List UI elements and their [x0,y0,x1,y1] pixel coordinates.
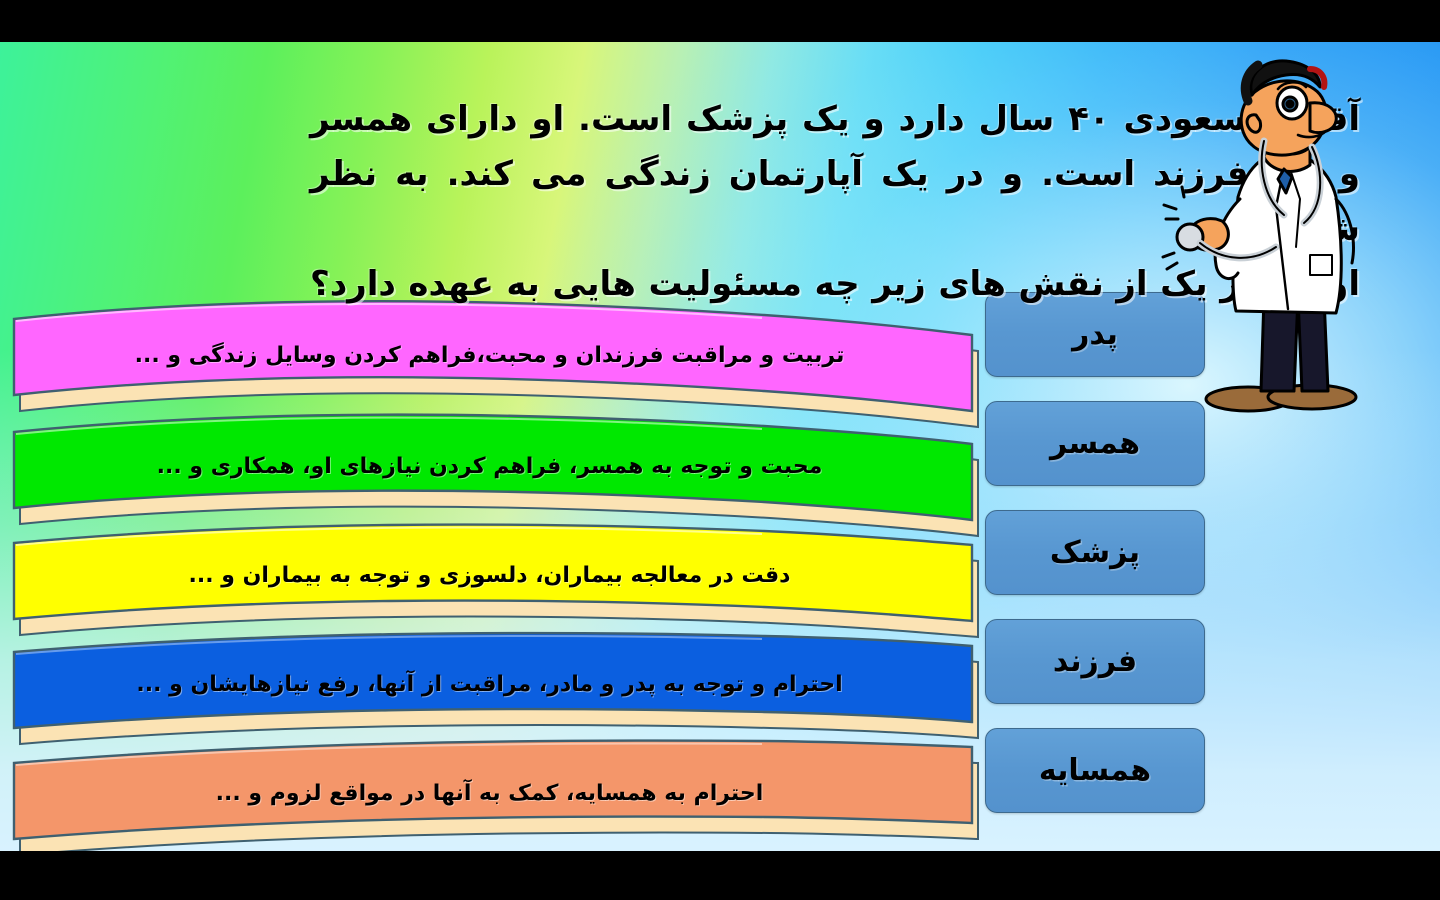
role-label-neighbor: همسایه [1039,753,1151,788]
responsibility-band-list: تربیت و مراقبت فرزندان و محبت،فراهم کردن… [4,285,979,850]
doctor-illustration [1160,47,1420,447]
role-box-physician[interactable]: پزشک [985,510,1205,595]
band-text-child: احترام و توجه به پدر و مادر، مراقبت از آ… [26,672,953,697]
band-text-spouse: محبت و توجه به همسر، فراهم کردن نیازهای … [26,454,953,479]
role-label-physician: پزشک [1050,535,1140,570]
band-text-neighbor: احترام به همسایه، کمک به آنها در مواقع ل… [26,781,953,806]
slide-root: آقای مسعودی ۴۰ سال دارد و یک پزشک است. ا… [0,0,1440,900]
band-row-neighbor: احترام به همسایه، کمک به آنها در مواقع ل… [4,713,979,851]
role-label-spouse: همسر [1050,426,1140,461]
role-box-neighbor[interactable]: همسایه [985,728,1205,813]
role-label-child: فرزند [1053,644,1137,679]
band-text-physician: دقت در معالجه بیماران، دلسوزی و توجه به … [26,563,953,588]
role-label-father: پدر [1072,317,1118,352]
role-box-child[interactable]: فرزند [985,619,1205,704]
band-text-father: تربیت و مراقبت فرزندان و محبت،فراهم کردن… [26,343,953,368]
slide-canvas: آقای مسعودی ۴۰ سال دارد و یک پزشک است. ا… [0,42,1440,851]
